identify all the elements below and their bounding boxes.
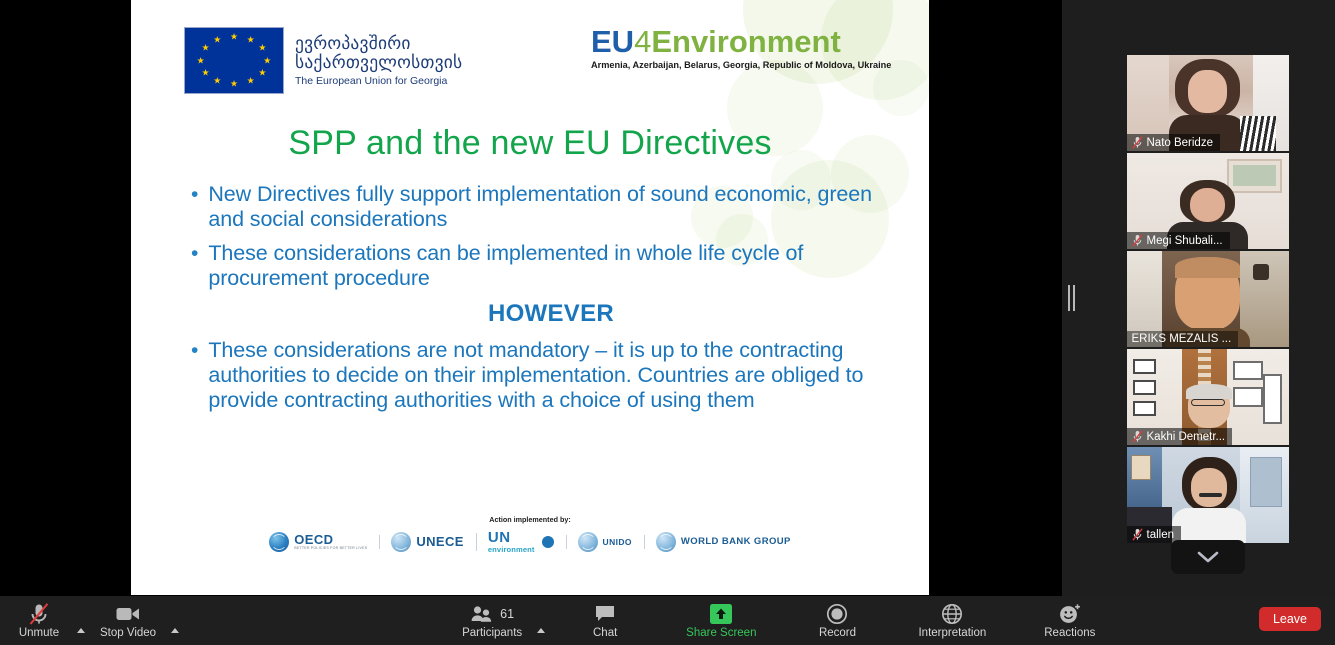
toolbar-share-screen-button[interactable]: Share Screen [678,596,764,645]
toolbar-video-label: Stop Video [100,627,156,639]
participant-name: Megi Shubali... [1147,235,1223,247]
participant-name: Nato Beridze [1147,137,1213,149]
participant-name: ERIKS MEZALIS ... [1132,333,1232,345]
toolbar-interpretation-label: Interpretation [918,627,986,639]
bullet-text: New Directives fully support implementat… [208,182,911,232]
globe-icon [941,602,963,626]
bullet-marker-icon: • [191,338,198,413]
unece-logo-name: UNECE [416,534,464,549]
however-emphasis: HOWEVER [191,300,911,328]
people-icon: 61 [470,602,514,626]
camera-icon [115,602,141,626]
toolbar-participants-button[interactable]: 61 Participants [454,596,530,645]
toolbar-record-label: Record [819,627,856,639]
bullet-marker-icon: • [191,241,198,291]
oecd-logo-tagline: BETTER POLICIES FOR BETTER LIVES [294,547,367,551]
microphone-muted-icon [28,602,50,626]
participants-count: 61 [500,607,514,621]
unece-emblem-icon [391,532,411,552]
oecd-logo: OECD BETTER POLICIES FOR BETTER LIVES [257,532,379,552]
eu-logo-line2: საქართველოსთვის [295,53,462,73]
un-environment-sub-text: environment [488,546,535,554]
leave-meeting-button[interactable]: Leave [1259,607,1321,631]
world-bank-globe-icon [656,532,676,552]
panel-resize-handle[interactable] [1062,0,1080,596]
microphone-muted-icon [1132,430,1143,443]
participant-name: tallen [1147,529,1175,541]
toolbar-reactions-label: Reactions [1044,627,1095,639]
unido-logo-name: UNIDO [603,537,632,547]
eu4env-4-text: 4 [634,24,651,59]
toolbar-interpretation-button[interactable]: Interpretation [910,596,994,645]
unido-globe-icon [578,532,598,552]
participants-options-caret[interactable] [530,596,552,645]
toolbar-record-button[interactable]: Record [806,596,868,645]
eu4env-env-text: Environment [651,24,840,59]
slide-title: SPP and the new EU Directives [131,124,929,163]
chevron-down-icon [1197,551,1219,564]
share-up-arrow-icon [709,602,733,626]
smiley-plus-icon [1058,602,1082,626]
bullet-item: • New Directives fully support implement… [191,182,911,232]
world-bank-group-logo: WORLD BANK GROUP [644,532,803,552]
audio-options-caret[interactable] [70,596,92,645]
microphone-muted-icon [1132,136,1143,149]
eu4env-country-list: Armenia, Azerbaijan, Belarus, Georgia, R… [591,60,891,70]
participant-name-bar: ERIKS MEZALIS ... [1127,331,1239,347]
oecd-globe-icon [269,532,289,552]
presentation-slide: ★ ★ ★ ★ ★ ★ ★ ★ ★ ★ ★ ★ ევროპავშირ [131,0,929,595]
eu-logo-english: The European Union for Georgia [295,76,462,88]
participant-thumbnail-active-speaker[interactable]: ERIKS MEZALIS ... [1127,251,1289,347]
toolbar-chat-button[interactable]: Chat [574,596,636,645]
record-circle-icon [826,602,848,626]
bullet-marker-icon: • [191,182,198,232]
participant-thumbnail[interactable]: Megi Shubali... [1127,153,1289,249]
participant-name-bar: Megi Shubali... [1127,232,1230,249]
eu4environment-logo: EU4Environment Armenia, Azerbaijan, Bela… [591,26,891,70]
drag-handle-icon [1068,285,1075,311]
un-environment-logo: UN environment [476,530,566,554]
participant-name-bar: Kakhi Demetr... [1127,428,1233,445]
slide-body: • New Directives fully support implement… [191,182,911,422]
eu4env-eu-text: EU [591,24,634,59]
toolbar-participants-label: Participants [462,627,522,639]
participant-thumbnail[interactable]: Kakhi Demetr... [1127,349,1289,445]
participant-name-bar: Nato Beridze [1127,134,1220,151]
participant-thumbnail[interactable]: Nato Beridze [1127,55,1289,151]
video-options-caret[interactable] [164,596,186,645]
meeting-toolbar: Unmute Stop Video 61 [0,596,1335,645]
un-environment-badge-icon [542,536,554,548]
implemented-by-label: Action implemented by: [131,515,929,524]
toolbar-reactions-button[interactable]: Reactions [1036,596,1103,645]
bullet-item: • These considerations are not mandatory… [191,338,911,413]
slide-logo-row: ★ ★ ★ ★ ★ ★ ★ ★ ★ ★ ★ ★ ევროპავშირ [131,0,929,105]
speech-bubble-icon [594,602,616,626]
oecd-logo-name: OECD [294,533,367,547]
eu-logo-line1: ევროპავშირი [295,34,462,54]
microphone-muted-icon [1132,528,1143,541]
bullet-text: These considerations can be implemented … [208,241,911,291]
european-union-flag-icon: ★ ★ ★ ★ ★ ★ ★ ★ ★ ★ ★ ★ [184,27,284,94]
toolbar-share-screen-label: Share Screen [686,627,756,639]
participant-name: Kakhi Demetr... [1147,431,1226,443]
bullet-item: • These considerations can be implemente… [191,241,911,291]
bullet-text: These considerations are not mandatory –… [208,338,911,413]
unido-logo: UNIDO [566,532,644,552]
filmstrip-scroll-down-button[interactable] [1171,540,1245,574]
participant-thumbnail[interactable]: tallen [1127,447,1289,543]
slide-footer: Action implemented by: OECD BETTER POLIC… [131,515,929,554]
world-bank-logo-name: WORLD BANK GROUP [681,536,791,547]
shared-screen-stage: ★ ★ ★ ★ ★ ★ ★ ★ ★ ★ ★ ★ ევროპავშირ [0,0,1062,596]
zoom-meeting-window: ★ ★ ★ ★ ★ ★ ★ ★ ★ ★ ★ ★ ევროპავშირ [0,0,1335,645]
toolbar-audio-label: Unmute [19,627,59,639]
microphone-muted-icon [1132,234,1143,247]
toolbar-video-button[interactable]: Stop Video [92,596,164,645]
unece-logo: UNECE [379,532,476,552]
partner-logo-bar: OECD BETTER POLICIES FOR BETTER LIVES UN… [131,530,929,554]
un-environment-main-text: UN [488,530,535,546]
participant-filmstrip: Nato Beridze Megi Shubali... [1080,0,1335,596]
toolbar-audio-button[interactable]: Unmute [8,596,70,645]
toolbar-chat-label: Chat [593,627,617,639]
eu-georgia-logo: ★ ★ ★ ★ ★ ★ ★ ★ ★ ★ ★ ★ ევროპავშირ [184,27,462,94]
